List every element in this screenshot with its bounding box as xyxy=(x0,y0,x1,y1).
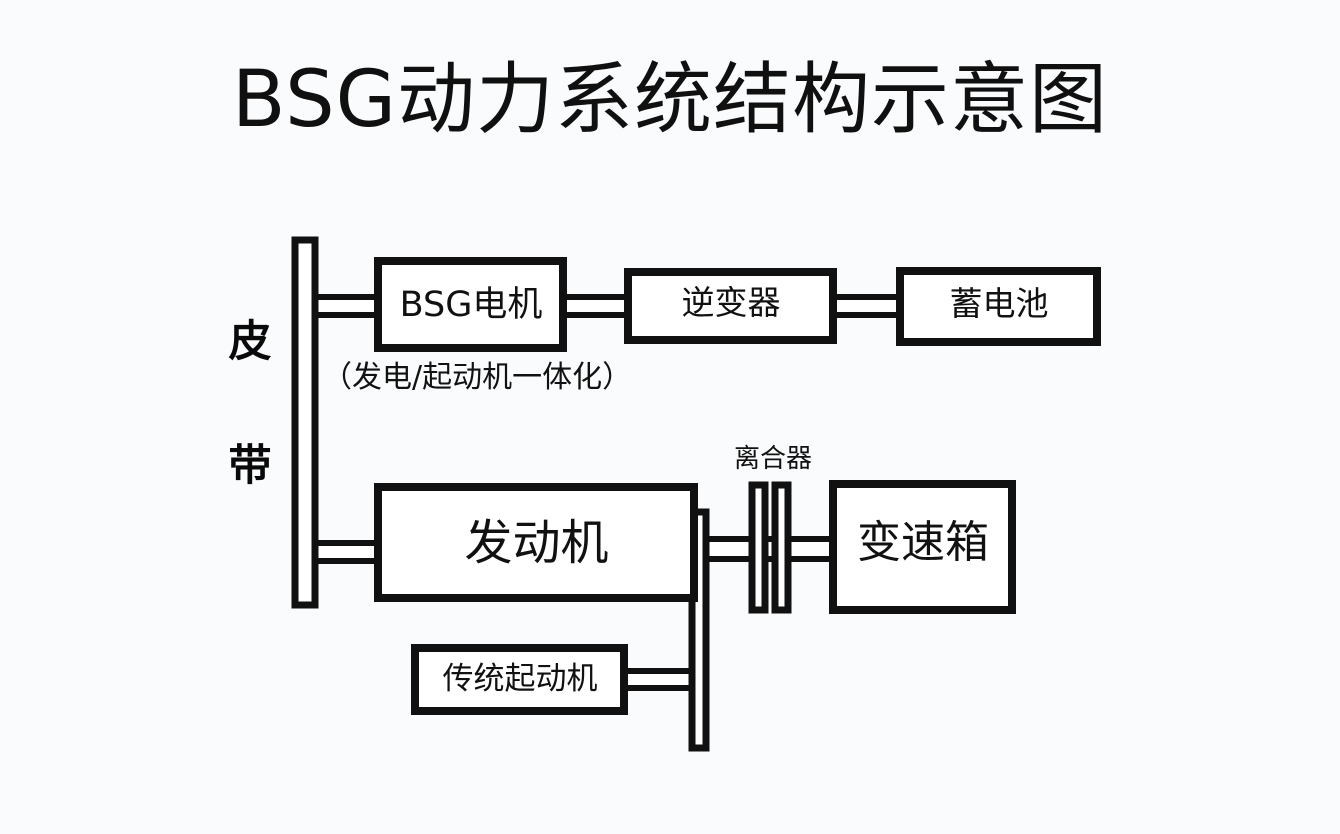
bsg-powertrain-diagram xyxy=(0,0,1340,834)
belt-label-char-2: 带 xyxy=(224,442,276,490)
connector-engine-to-clutch xyxy=(703,539,755,559)
inverter-box[interactable] xyxy=(628,272,833,340)
clutch-plate-right xyxy=(775,485,788,610)
diagram-canvas: BSG动力系统结构示意图 xyxy=(0,0,1340,834)
belt-bar xyxy=(295,240,315,605)
clutch-plate-left xyxy=(752,485,765,610)
connector-inverter-to-battery xyxy=(830,297,904,315)
battery-box[interactable] xyxy=(900,271,1097,342)
bsg-motor-box[interactable] xyxy=(378,261,563,348)
connector-bsg-motor-to-inverter xyxy=(560,297,632,315)
connector-clutch-to-transmission xyxy=(785,539,835,559)
bsg-motor-caption: （发电/起动机一体化） xyxy=(322,358,662,398)
engine-box[interactable] xyxy=(378,487,694,598)
connector-belt-to-bsg-motor xyxy=(312,297,382,315)
connector-starter-to-crankshaft xyxy=(621,671,695,688)
belt-label-char-1: 皮 xyxy=(224,318,276,366)
transmission-box[interactable] xyxy=(833,484,1012,610)
connector-belt-to-engine xyxy=(312,543,382,561)
conventional-starter-box[interactable] xyxy=(415,648,624,711)
